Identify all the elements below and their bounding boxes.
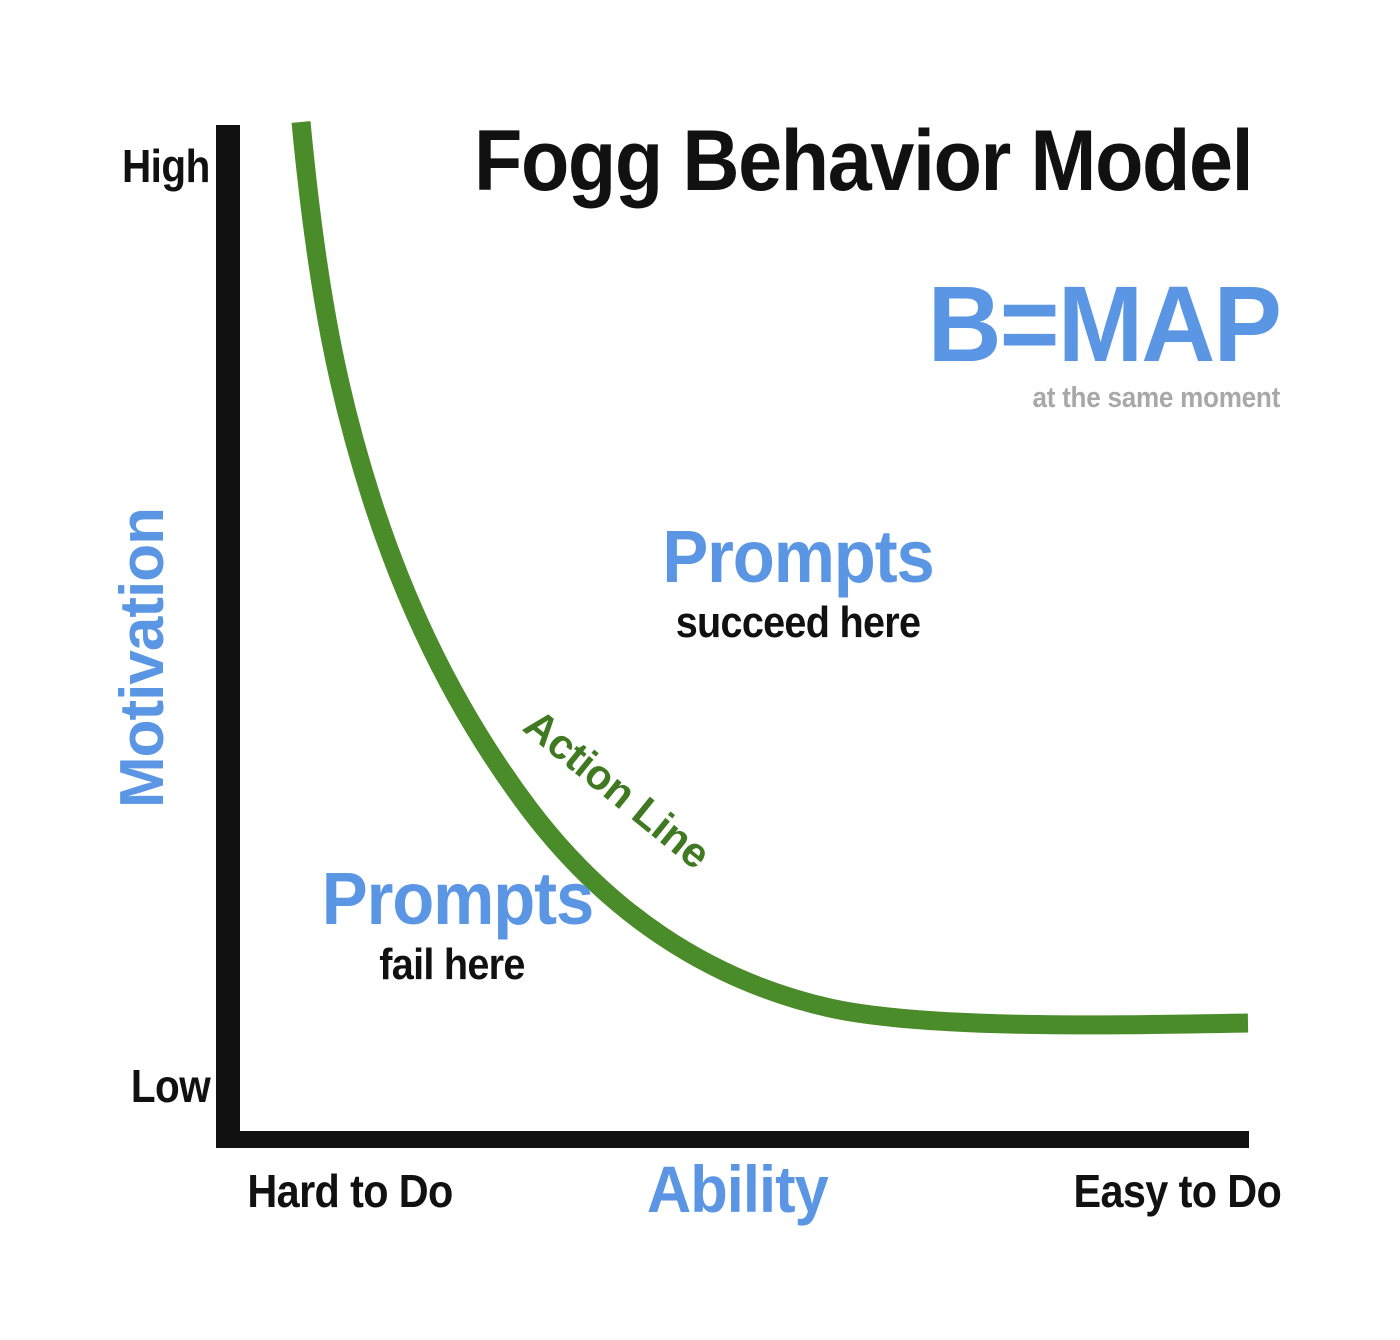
page-title: Fogg Behavior Model bbox=[474, 118, 1252, 204]
region-succeed-sub: succeed here bbox=[663, 601, 933, 645]
x-axis-left-label: Hard to Do bbox=[247, 1168, 452, 1214]
y-axis-line bbox=[216, 125, 240, 1148]
formula-note: at the same moment bbox=[920, 382, 1280, 415]
region-succeed-word: Prompts bbox=[659, 520, 938, 594]
region-label-fail: Prompts fail here bbox=[312, 862, 592, 987]
formula-block: B=MAP at the same moment bbox=[880, 270, 1280, 415]
x-axis-right-label: Easy to Do bbox=[1074, 1168, 1282, 1214]
x-axis-title: Ability bbox=[647, 1156, 828, 1222]
region-fail-word: Prompts bbox=[322, 862, 582, 936]
y-axis-low-label: Low bbox=[131, 1059, 210, 1113]
action-line-label: Action Line bbox=[515, 700, 719, 878]
y-axis-high-label: High bbox=[122, 139, 210, 193]
region-fail-sub: fail here bbox=[326, 943, 578, 987]
fogg-behavior-model-diagram: High Low Fogg Behavior Model B=MAP at th… bbox=[0, 0, 1400, 1340]
region-label-succeed: Prompts succeed here bbox=[648, 520, 948, 645]
y-axis-title: Motivation bbox=[112, 508, 174, 808]
x-axis-line bbox=[216, 1131, 1249, 1148]
formula-equation: B=MAP bbox=[900, 270, 1280, 378]
